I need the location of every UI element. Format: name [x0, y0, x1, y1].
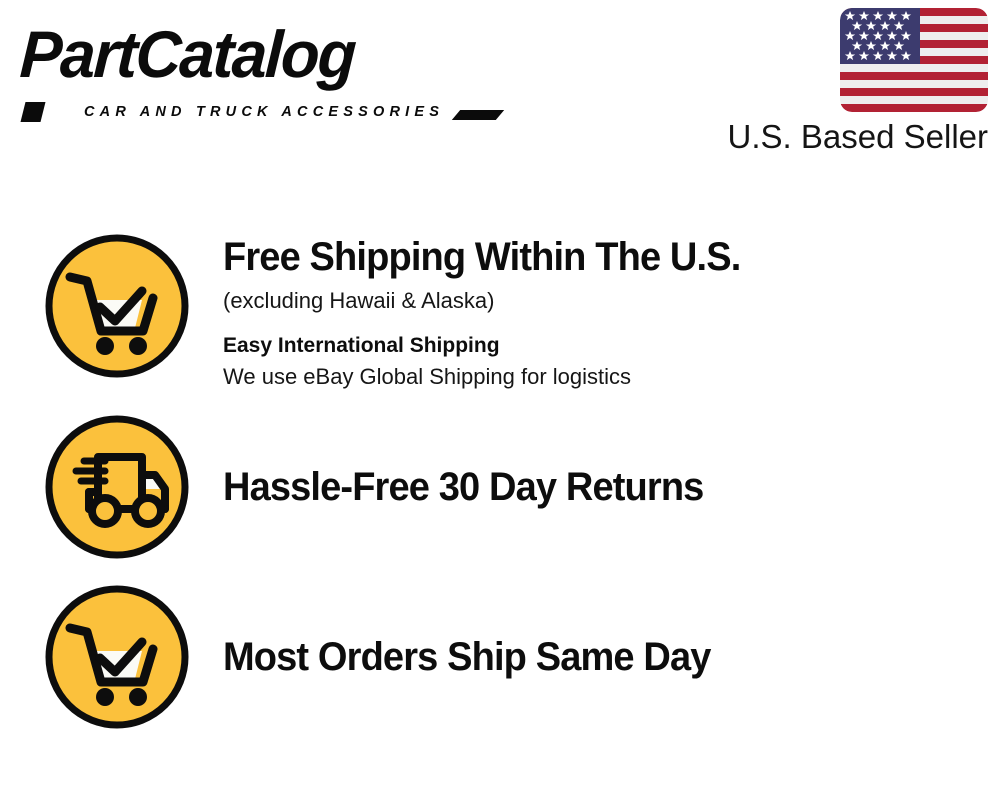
- shipping-info-banner: PartCatalog CAR AND TRUCK ACCESSORIES: [0, 0, 1000, 800]
- benefit-subtitle: (excluding Hawaii & Alaska): [223, 286, 1000, 316]
- us-flag-icon: [840, 8, 988, 112]
- logo-swash-left-icon: [21, 102, 46, 122]
- shopping-cart-check-icon: [43, 583, 191, 731]
- benefit-heading: Free Shipping Within The U.S.: [223, 234, 961, 280]
- benefit-text-block: Hassle-Free 30 Day Returns: [191, 464, 1000, 510]
- benefit-secondary-text: We use eBay Global Shipping for logistic…: [223, 362, 1000, 392]
- benefit-row: Free Shipping Within The U.S. (excluding…: [0, 232, 1000, 402]
- benefits-list: Free Shipping Within The U.S. (excluding…: [0, 232, 1000, 742]
- us-based-seller-label: U.S. Based Seller: [726, 118, 988, 156]
- benefit-heading: Hassle-Free 30 Day Returns: [223, 464, 961, 510]
- benefit-secondary-heading: Easy International Shipping: [223, 332, 1000, 360]
- benefit-text-block: Most Orders Ship Same Day: [191, 634, 1000, 680]
- benefit-heading: Most Orders Ship Same Day: [223, 634, 961, 680]
- delivery-truck-icon: [43, 413, 191, 561]
- brand-logo: PartCatalog CAR AND TRUCK ACCESSORIES: [22, 18, 492, 113]
- benefit-row: Hassle-Free 30 Day Returns: [0, 402, 1000, 572]
- shopping-cart-check-icon: [43, 232, 191, 380]
- brand-wordmark: PartCatalog: [18, 18, 356, 90]
- benefit-text-block: Free Shipping Within The U.S. (excluding…: [191, 232, 1000, 392]
- logo-swash-right-icon: [452, 110, 504, 120]
- brand-tagline: CAR AND TRUCK ACCESSORIES: [84, 104, 444, 120]
- benefit-row: Most Orders Ship Same Day: [0, 572, 1000, 742]
- us-based-seller-badge: U.S. Based Seller: [726, 8, 988, 156]
